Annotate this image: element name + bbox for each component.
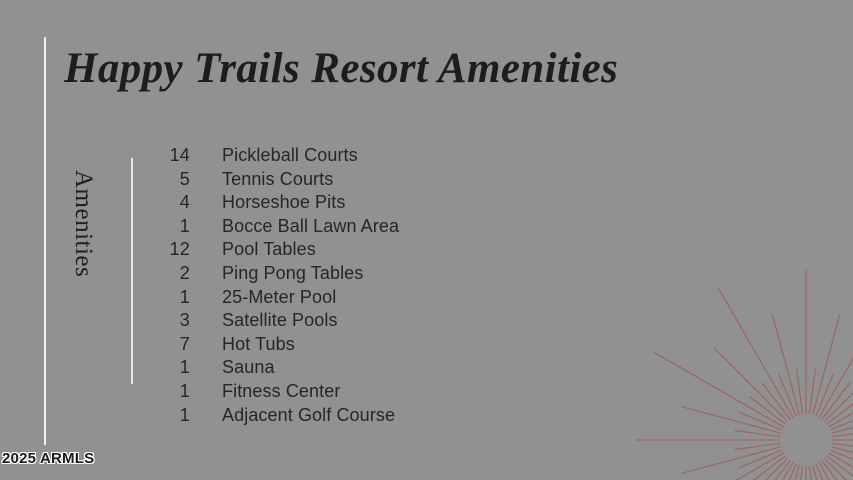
slide-canvas: Happy Trails Resort Amenities Amenities … — [0, 0, 853, 480]
starburst-ray — [778, 373, 796, 415]
page-title: Happy Trails Resort Amenities — [64, 46, 618, 91]
amenity-label: Pickleball Courts — [190, 144, 358, 168]
amenity-count: 3 — [140, 309, 190, 333]
starburst-ray — [772, 465, 799, 480]
amenity-row: 4Horseshoe Pits — [140, 191, 540, 215]
amenity-row: 3Satellite Pools — [140, 309, 540, 333]
starburst-ray — [739, 450, 782, 468]
inner-vertical-rule — [131, 158, 133, 384]
starburst-ray — [824, 348, 853, 422]
starburst-ray — [735, 443, 781, 449]
starburst-ray — [749, 456, 785, 480]
starburst-ray — [749, 396, 785, 424]
starburst-ray — [654, 453, 784, 480]
amenity-count: 4 — [140, 191, 190, 215]
starburst-ray — [827, 396, 853, 424]
starburst-ray — [830, 412, 853, 430]
amenity-count: 1 — [140, 356, 190, 380]
amenity-label: Pool Tables — [190, 238, 316, 262]
starburst-ray — [718, 463, 793, 480]
starburst-ray — [832, 443, 853, 449]
starburst-ray — [739, 412, 782, 430]
starburst-ray — [816, 373, 834, 415]
starburst-ray — [762, 383, 790, 419]
starburst-ray — [830, 450, 853, 468]
amenity-count: 12 — [140, 238, 190, 262]
amenity-label: Sauna — [190, 356, 275, 380]
starburst-ray — [778, 464, 796, 480]
amenity-count: 7 — [140, 333, 190, 357]
amenity-label: Hot Tubs — [190, 333, 295, 357]
amenity-count: 5 — [140, 168, 190, 192]
starburst-ray — [680, 406, 780, 433]
amenity-label: Horseshoe Pits — [190, 191, 345, 215]
amenity-row: 1Adjacent Golf Course — [140, 404, 540, 428]
starburst-ray — [654, 352, 784, 427]
amenity-row: 125-Meter Pool — [140, 286, 540, 310]
amenity-row: 5Tennis Courts — [140, 168, 540, 192]
amenity-label: Satellite Pools — [190, 309, 338, 333]
starburst-ray — [809, 369, 815, 415]
amenity-label: Adjacent Golf Course — [190, 404, 395, 428]
starburst-icon — [636, 270, 853, 480]
starburst-ray — [735, 431, 781, 437]
amenity-row: 7Hot Tubs — [140, 333, 540, 357]
starburst-ray — [822, 461, 850, 480]
starburst-ray — [824, 458, 853, 480]
starburst-ray — [813, 314, 840, 414]
starburst-ray — [714, 348, 788, 422]
amenity-count: 1 — [140, 286, 190, 310]
starburst-ray — [809, 466, 815, 480]
starburst-ray — [813, 465, 840, 480]
amenities-list: 14Pickleball Courts5Tennis Courts4Horses… — [140, 144, 540, 427]
amenity-count: 1 — [140, 215, 190, 239]
starburst-ray — [816, 464, 834, 480]
amenity-row: 1Fitness Center — [140, 380, 540, 404]
amenity-row: 14Pickleball Courts — [140, 144, 540, 168]
starburst-ray — [829, 453, 853, 480]
amenity-count: 1 — [140, 404, 190, 428]
starburst-ray — [797, 369, 803, 415]
amenity-label: Tennis Courts — [190, 168, 333, 192]
section-label-amenities: Amenities — [69, 170, 97, 277]
starburst-ray — [831, 447, 853, 474]
amenity-count: 1 — [140, 380, 190, 404]
amenity-row: 1Bocce Ball Lawn Area — [140, 215, 540, 239]
left-vertical-rule — [44, 37, 46, 445]
starburst-ray — [762, 461, 790, 480]
starburst-ray — [718, 288, 793, 418]
amenity-row: 12Pool Tables — [140, 238, 540, 262]
starburst-ray — [772, 314, 799, 414]
starburst-ray — [819, 288, 853, 418]
starburst-ray — [827, 456, 853, 480]
starburst-ray — [829, 352, 853, 427]
amenity-label: Ping Pong Tables — [190, 262, 363, 286]
amenity-label: 25-Meter Pool — [190, 286, 336, 310]
amenity-label: Fitness Center — [190, 380, 340, 404]
amenity-label: Bocce Ball Lawn Area — [190, 215, 399, 239]
watermark: 2025 ARMLS — [2, 450, 94, 467]
amenity-count: 14 — [140, 144, 190, 168]
starburst-ray — [680, 447, 780, 474]
starburst-ray — [714, 458, 788, 480]
amenity-count: 2 — [140, 262, 190, 286]
starburst-ray — [832, 431, 853, 437]
starburst-ray — [822, 383, 850, 419]
starburst-ray — [819, 463, 853, 480]
amenity-row: 2Ping Pong Tables — [140, 262, 540, 286]
amenity-row: 1Sauna — [140, 356, 540, 380]
starburst-ray — [831, 406, 853, 433]
starburst-ray — [797, 466, 803, 480]
